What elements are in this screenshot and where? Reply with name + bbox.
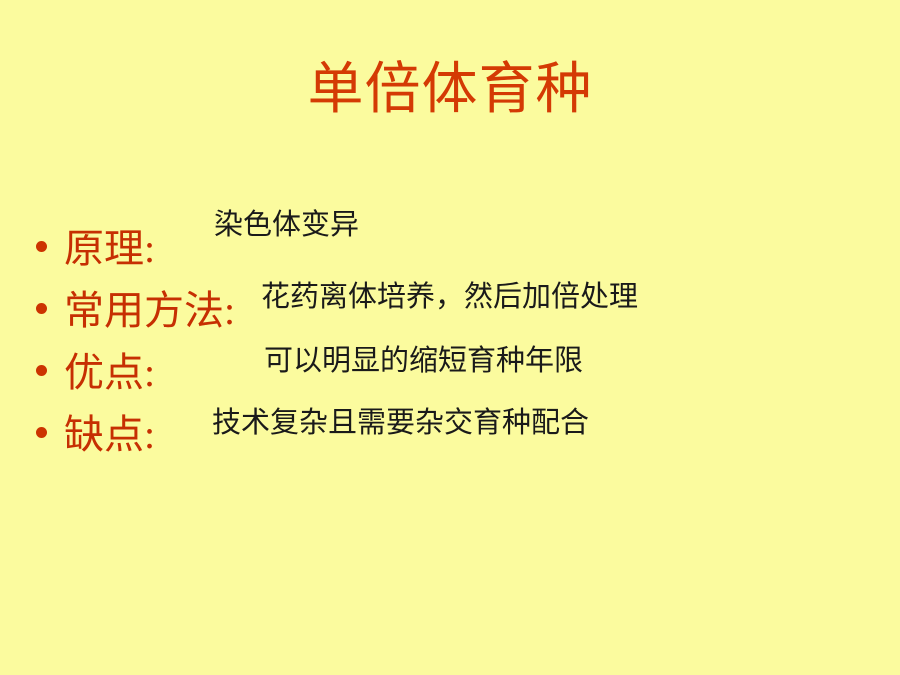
bullet-dot-icon bbox=[36, 303, 47, 314]
bullet-label-principle: 原理: bbox=[64, 228, 155, 270]
answer-text-principle: 染色体变异 bbox=[214, 209, 359, 241]
presentation-slide: 单倍体育种 原理: 常用方法: 优点: 缺点: 染色体变异 花药离体培养，然后加… bbox=[0, 0, 900, 675]
bullet-item-advantage: 优点: bbox=[36, 352, 155, 394]
bullet-label-advantage: 优点: bbox=[64, 352, 155, 394]
bullet-item-disadvantage: 缺点: bbox=[36, 414, 155, 456]
bullet-item-method: 常用方法: bbox=[36, 290, 235, 332]
bullet-dot-icon bbox=[36, 365, 47, 376]
bullet-item-principle: 原理: bbox=[36, 228, 155, 270]
bullet-label-disadvantage: 缺点: bbox=[64, 414, 155, 456]
answer-text-method: 花药离体培养，然后加倍处理 bbox=[261, 281, 638, 313]
bullet-dot-icon bbox=[36, 427, 47, 438]
bullet-label-method: 常用方法: bbox=[64, 290, 235, 332]
bullet-dot-icon bbox=[36, 241, 47, 252]
answer-text-advantage: 可以明显的缩短育种年限 bbox=[264, 345, 583, 377]
answer-text-disadvantage: 技术复杂且需要杂交育种配合 bbox=[212, 407, 589, 439]
page-title: 单倍体育种 bbox=[0, 58, 900, 122]
